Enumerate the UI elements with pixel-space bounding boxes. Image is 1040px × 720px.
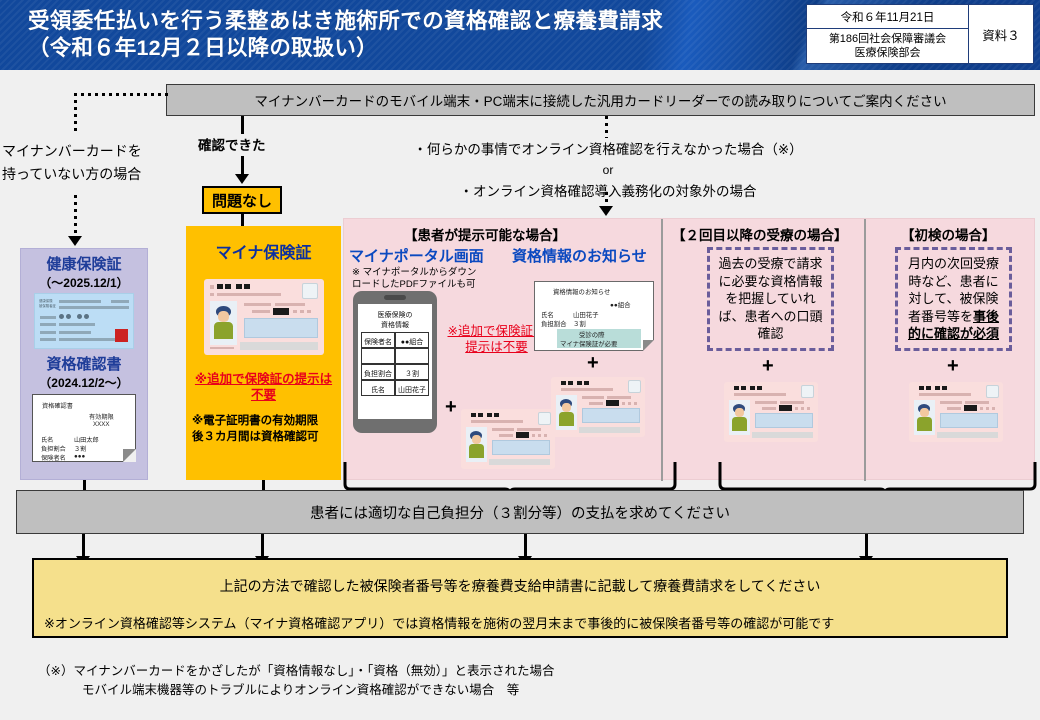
mn3-gray-field [579,427,640,433]
second-visit-instruction-box: 過去の受療で請求に必要な資格情報を把握していれば、患者への口頭確認 [707,247,834,351]
no-card-case-label: マイナンバーカードを 持っていない方の場合 [2,140,172,186]
hcard-dot-4 [84,314,89,319]
mn5-bar-f [986,407,989,410]
mn5-bar-g [992,407,995,410]
meta-council: 第186回社会保障審議会 医療保険部会 [807,29,968,63]
scard-expiry-value: XXXX [93,421,110,428]
health-insurance-card-image: 健康保険 被保険者証 [34,293,134,349]
offline-arrow-head [599,206,613,216]
scard-insurer-label: 保険者名 [41,453,66,462]
mn2-blue-field [492,440,550,455]
mn5-emblem [986,385,999,398]
tablet-row1-value: ●●組合 [395,337,429,347]
dotted-arrow-head [68,236,82,246]
mn2-blk-b [478,413,483,417]
portal-pdf-note-line2: ロードしたPDFファイルも可 [352,279,512,291]
notice-paper-ratio-value: ３割 [573,319,586,328]
mn1-blk-d [244,284,250,289]
claim-instruction-line1: 上記の方法で確認した被保険者番号等を療養費支給申請書に記載して療養費請求をしてく… [34,576,1006,596]
tablet-row2-label-cell [361,348,395,364]
confirmed-arrow-head [235,174,249,184]
tablet-row3-value: ３割 [395,369,429,379]
hcard-tiny-text-2: 被保険者証 [39,304,56,308]
scard-ratio-label: 負担割合 [41,444,66,453]
mn5-bar-c [965,401,989,404]
mn3-photo [556,395,577,430]
mn1-gray-field [240,342,318,350]
mn1-bar-d [210,347,234,349]
hcard-seal [115,329,128,342]
claim-instruction-line2: ※オンライン資格確認等システム（マイナ資格確認アプリ）では資格情報を施術の翌月末… [34,613,1006,632]
hcard-dot-3 [77,314,82,319]
offline-dotted-upper [605,116,608,138]
hcard-line-8 [59,331,91,334]
mn4-blue-field [755,413,813,428]
dotted-connector-vertical-bottom [74,195,77,239]
meta-council-line2: 医療保険部会 [855,46,921,60]
mn5-blk-a [919,386,924,390]
hcard-line-4 [40,316,56,319]
mn2-bar-b [492,428,514,431]
myna-card-image-1 [204,279,324,355]
mn1-emblem [302,283,318,299]
myna-expiry-note-line1: ※電子証明書の有効期限 [192,413,341,429]
gray-to-yellow-line-1 [82,534,85,558]
myna-portal-screen-heading: マイナポータル画面 [349,245,484,266]
mn3-bar-c [607,396,631,399]
hcard-line-3 [59,306,129,309]
pink-separator-2 [864,219,866,481]
section-first-visit-heading: 【初検の場合】 [901,224,996,244]
mn1-blk-e [273,308,289,315]
mn5-bar-b [940,401,962,404]
no-problem-to-myna-line [241,214,244,226]
hcard-line-10 [59,338,115,341]
mn1-blk-a [217,284,223,289]
mn3-bar-a [561,388,613,391]
mn4-blk-b [741,386,746,390]
portal-pdf-note-line1: ※ マイナポータルからダウン [352,267,512,279]
mn2-face [472,435,481,444]
mn1-blk-c [236,284,242,289]
mn3-bar-b [582,396,604,399]
no-problem-box: 問題なし [202,186,282,214]
scard-ratio-value: ３割 [74,444,86,453]
mn4-body [732,417,747,431]
myna-expiry-note-line2: 後３カ月間は資格確認可 [192,429,341,445]
mn2-emblem [538,412,551,425]
tablet-speaker [384,295,406,300]
mn4-bar-f [801,407,804,410]
myna-red-note: ※追加で保険証の提示は 不要 [186,371,341,403]
offline-case-line1: ・何らかの事情でオンライン資格確認を行えなかった場合（※） [368,139,848,160]
myna-insurance-card-heading: マイナ保険証 [186,239,341,263]
mn4-bar-b [755,401,777,404]
mn3-blk-b [568,381,573,385]
hcard-line-7 [40,331,56,334]
no-card-case-line1: マイナンバーカードを [2,140,172,163]
health-insurance-card-heading: 健康保険証 [21,253,147,274]
mn2-bar-e [532,434,535,437]
mn5-gray-field [937,432,998,438]
offline-case-label: ・何らかの事情でオンライン資格確認を行えなかった場合（※） or ・オンライン資… [368,139,848,202]
qualification-notice-heading: 資格情報のお知らせ [512,245,647,266]
mn2-blk-e [516,432,529,438]
mn3-blue-field [582,408,640,423]
mn1-blue-field [244,318,318,338]
first-visit-instruction-box: 月内の次回受療時など、患者に対して、被保険者番号等を事後的に確認が必須 [895,247,1012,351]
mn1-photo [210,301,237,345]
tablet-device-image: 医療保険の 資格情報 保険者名 ●●組合 負担割合 ３割 氏名 山田花子 [353,291,437,433]
portal-pdf-note: ※ マイナポータルからダウン ロードしたPDFファイルも可 [352,267,512,291]
mn5-blk-e [964,405,977,411]
page-title: 受領委任払いを行う柔整あはき施術所での資格確認と療養費請求 （令和６年12月２日… [28,8,818,62]
claim-instruction-box: 上記の方法で確認した被保険者番号等を療養費支給申請書に記載して療養費請求をしてく… [32,558,1008,638]
plus-sign-portal: + [445,396,457,419]
mn1-bar-g [252,310,270,313]
mn2-bar-d [499,434,513,437]
mn5-body [917,417,932,431]
tablet-title-line1: 医療保険の [358,310,432,320]
scard-expiry-label: 有効期限 [89,412,114,421]
qualification-notice-paper: 資格情報のお知らせ ●●組合 氏名 山田花子 負担割合 ３割 受診の際 マイナ保… [534,281,654,351]
hcard-line-6 [59,323,95,326]
mn3-blk-d [584,381,589,385]
mn3-bar-g [634,402,637,405]
footnote-line1: （※）マイナンバーカードをかざしたが「資格情報なし」・「資格（無効）」と表示され… [38,662,938,681]
mn2-bar-f [538,434,541,437]
mn3-blk-e [606,400,619,406]
mn4-bar-a [734,393,786,396]
tablet-row3-label: 負担割合 [361,369,395,379]
document-meta-table: 令和６年11月21日 第186回社会保障審議会 医療保険部会 資料３ [806,4,1034,64]
footnote-block: （※）マイナンバーカードをかざしたが「資格情報なし」・「資格（無効）」と表示され… [38,662,938,700]
top-instruction-bar: マイナンバーカードのモバイル端末・PC端末に接続した汎用カードリーダーでの読み取… [166,84,1035,116]
mn4-blk-c [750,386,755,390]
meta-council-line1: 第186回社会保障審議会 [829,32,946,46]
mn3-bar-d [589,402,603,405]
mn5-blk-d [942,386,947,390]
mn1-bar-h [293,310,297,313]
mn4-emblem [801,385,814,398]
confirmed-line-upper [241,116,244,134]
gray-to-yellow-line-4 [865,534,868,558]
mn4-photo [729,400,750,435]
myna-insurance-card-panel: マイナ保険証 [186,226,341,480]
hcard-line-5 [40,323,56,326]
mn5-face [920,408,929,417]
mn1-blk-b [225,284,231,289]
mn1-bar-i [300,310,304,313]
tablet-row2-value-cell [395,348,429,364]
myna-card-image-2 [461,409,555,469]
myna-card-image-4 [724,382,818,442]
page-title-line1: 受領委任払いを行う柔整あはき施術所での資格確認と療養費請求 [28,8,818,35]
mn4-bar-d [762,407,776,410]
mn1-bar-b [210,293,214,296]
mn5-blk-b [926,386,931,390]
hcard-dot-1 [59,314,64,319]
qualification-certificate-image: 資格確認書 有効期限 XXXX 氏名 山田太郎 負担割合 ３割 保険者名 ●●● [32,394,136,462]
mn5-bar-a [919,393,971,396]
slide-root: 受領委任払いを行う柔整あはき施術所での資格確認と療養費請求 （令和６年12月２日… [0,0,1040,720]
myna-red-note-line1: ※追加で保険証の提示は [186,371,341,387]
pink-separator-1 [661,219,663,481]
scard-insurer-value: ●●● [74,453,85,460]
mn4-blk-d [757,386,762,390]
first-visit-instruction-text: 月内の次回受療時など、患者に対して、被保険者番号等を事後的に確認が必須 [903,255,1004,343]
mn1-bar-c [217,293,281,296]
qualification-certificate-period: （2024.12/2～） [21,374,147,391]
tablet-screen: 医療保険の 資格情報 保険者名 ●●組合 負担割合 ３割 氏名 山田花子 [358,304,432,419]
gray-to-yellow-line-3 [524,534,527,558]
mn1-bar-j [307,310,311,313]
section-second-visit-heading: 【２回目以降の受療の場合】 [672,224,848,244]
myna-red-note-line2: 不要 [186,387,341,403]
plus-sign-first-visit: + [947,355,959,378]
mn4-bar-c [780,401,804,404]
hcard-dot-2 [66,314,71,319]
mn4-blk-e [779,405,792,411]
notice-paper-name-label: 氏名 [541,310,554,319]
tablet-title-line2: 資格情報 [358,320,432,330]
offline-case-line2: ・オンライン資格確認導入義務化の対象外の場合 [368,181,848,202]
scard-name-value: 山田太郎 [74,435,99,444]
dotted-connector-vertical-top [74,93,77,131]
mn4-bar-e [795,407,798,410]
mn2-body [469,444,484,458]
mn5-blue-field [940,413,998,428]
offline-case-or: or [368,160,848,181]
mn4-blk-a [734,386,739,390]
mn3-bar-e [622,402,625,405]
mn2-blk-d [494,413,499,417]
myna-card-image-5 [909,382,1003,442]
mn3-emblem [628,380,641,393]
meta-date: 令和６年11月21日 [807,5,968,29]
mn1-face [218,311,229,322]
qualification-certificate-heading: 資格確認書 [21,353,147,374]
hcard-line-9 [40,338,56,341]
hcard-line-1 [59,300,101,303]
mn3-blk-a [561,381,566,385]
notice-paper-ratio-label: 負担割合 [541,319,567,328]
mn5-bar-e [980,407,983,410]
dotted-connector-horizontal [74,93,170,96]
mn1-bar-e [244,303,271,306]
hcard-tiny-text-1: 健康保険 [39,299,53,303]
mn3-blk-c [577,381,582,385]
meta-left-column: 令和６年11月21日 第186回社会保障審議会 医療保険部会 [807,5,969,63]
plus-sign-notice: + [587,352,599,375]
tablet-row4-label: 氏名 [361,385,395,395]
tablet-row4-value: 山田花子 [395,385,429,395]
page-title-line2: （令和６年12月２日以降の取扱い） [28,35,818,62]
mn4-bar-g [807,407,810,410]
notice-paper-insurer: ●●組合 [610,300,631,309]
tablet-row1-label: 保険者名 [361,337,395,347]
plus-sign-second-visit: + [762,355,774,378]
offline-verification-panel: 【患者が提示可能な場合】 マイナポータル画面 資格情報のお知らせ ※ マイナポー… [343,218,1035,480]
mn5-photo [914,400,935,435]
mn2-photo [466,427,487,462]
myna-card-image-3 [551,377,645,437]
mn3-body [559,412,574,426]
footnote-line2: モバイル端末機器等のトラブルによりオンライン資格確認ができない場合 等 [38,681,938,700]
paper-certificate-panel: 健康保険証 （～2025.12/1） 健康保険 被保険者証 資格確認書 （202… [20,248,148,480]
mn4-gray-field [752,432,813,438]
health-insurance-card-period: （～2025.12/1） [21,274,147,291]
mn1-bar-a [210,285,214,289]
mn2-bar-a [471,420,523,423]
mn1-body [214,322,233,339]
confirmed-label: 確認できた [198,134,266,154]
meta-doc-number: 資料３ [969,5,1033,63]
scard-title: 資格確認書 [42,401,73,410]
no-card-case-line2: 持っていない方の場合 [2,163,172,186]
myna-expiry-note: ※電子証明書の有効期限 後３カ月間は資格確認可 [186,413,341,445]
mn4-face [735,408,744,417]
mn2-bar-c [517,428,541,431]
notice-paper-highlight-line1: 受診の際 [579,330,605,339]
notice-paper-highlight-line2: マイナ保険証が必要 [560,339,617,348]
mn3-bar-f [628,402,631,405]
mn1-bar-f [275,303,305,306]
copay-instruction-bar: 患者には適切な自己負担分（３割分等）の支払を求めてください [16,490,1024,534]
confirmed-line-lower [241,156,244,176]
mn2-blk-a [471,413,476,417]
notice-paper-title: 資格情報のお知らせ [553,287,610,296]
notice-paper-name-value: 山田花子 [573,310,599,319]
mn3-face [562,403,571,412]
section-patient-can-present-heading: 【患者が提示可能な場合】 [404,224,566,244]
mn5-blk-c [935,386,940,390]
mn5-bar-d [947,407,961,410]
mn2-blk-c [487,413,492,417]
mn2-bar-g [544,434,547,437]
scard-name-label: 氏名 [41,435,53,444]
gray-to-yellow-line-2 [261,534,264,558]
hcard-line-2 [111,300,129,303]
